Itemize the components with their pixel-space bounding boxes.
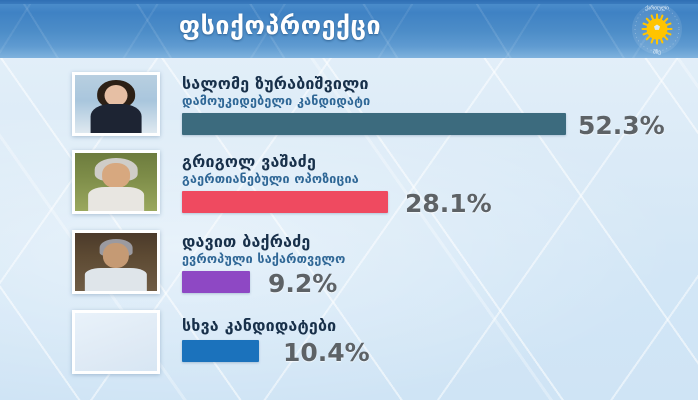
candidate-name: დავით ბაქრაძე bbox=[182, 232, 311, 251]
result-percent: 10.4% bbox=[283, 338, 370, 367]
photo-salome-zurabishvili bbox=[72, 72, 160, 136]
candidate-party: ევროპული საქართველო bbox=[182, 251, 346, 266]
result-percent: 28.1% bbox=[405, 189, 492, 218]
candidate-party: გაერთიანებული ოპოზიცია bbox=[182, 171, 359, 186]
result-bar bbox=[182, 113, 566, 135]
result-percent: 9.2% bbox=[268, 269, 337, 298]
result-bar bbox=[182, 340, 259, 362]
page-title: ფსიქოპროექცი bbox=[0, 11, 560, 40]
candidate-name: გრიგოლ ვაშაძე bbox=[182, 152, 316, 171]
header-top-line bbox=[0, 0, 698, 4]
sun-logo-icon: ქართული მზე bbox=[630, 2, 684, 56]
result-bar bbox=[182, 271, 250, 293]
candidate-party: დამოუკიდებელი კანდიდატი bbox=[182, 93, 370, 108]
candidate-name: სხვა კანდიდატები bbox=[182, 316, 336, 335]
photo-grigol-vashadze bbox=[72, 150, 160, 214]
result-percent: 52.3% bbox=[578, 111, 665, 140]
logo-text-bottom: მზე bbox=[653, 49, 661, 56]
result-bar bbox=[182, 191, 388, 213]
header-bar: ფსიქოპროექცი bbox=[0, 0, 698, 58]
results-list: სალომე ზურაბიშვილი დამოუკიდებელი კანდიდა… bbox=[0, 58, 698, 400]
broadcast-graphic-screen: ფსიქოპროექცი bbox=[0, 0, 698, 400]
sun-logo: ქართული მზე bbox=[630, 2, 684, 56]
logo-text-top: ქართული bbox=[645, 5, 669, 12]
candidate-name: სალომე ზურაბიშვილი bbox=[182, 74, 369, 93]
photo-davit-bakradze bbox=[72, 230, 160, 294]
photo-other-candidates-placeholder bbox=[72, 310, 160, 374]
